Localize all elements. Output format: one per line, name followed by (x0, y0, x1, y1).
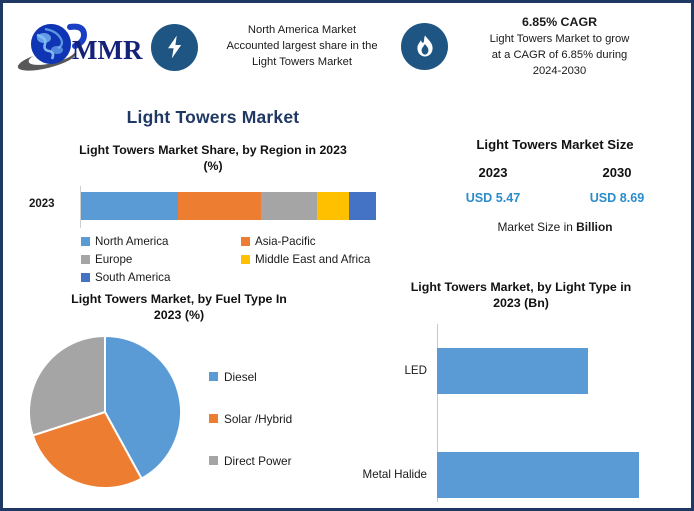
region-legend-label: North America (95, 233, 168, 251)
pie-legend: DieselSolar /HybridDirect Power (209, 356, 349, 482)
bar-row: LED (351, 348, 691, 394)
legend-swatch-icon (241, 255, 250, 264)
market-size-col-2023: 2023 USD 5.47 (431, 165, 555, 205)
bar-chart-title: Light Towers Market, by Light Type in 20… (371, 279, 671, 312)
badge-cagr-headline: 6.85% CAGR (457, 14, 662, 32)
region-legend-label: Europe (95, 251, 132, 269)
region-legend-item: North America (81, 233, 241, 251)
flame-icon (413, 34, 437, 60)
legend-swatch-icon (209, 456, 218, 465)
region-segment (178, 192, 261, 220)
badge-cagr: 6.85% CAGR Light Towers Market to grow a… (401, 14, 671, 79)
region-segment (81, 192, 178, 220)
page-title: Light Towers Market (3, 107, 423, 128)
mmr-logo: MMR (3, 19, 151, 75)
badge2-line2: at a CAGR of 6.85% during (492, 49, 628, 61)
pie-title-line1: Light Towers Market, by Fuel Type In (71, 292, 287, 306)
badge-north-america: North America Market Accounted largest s… (151, 23, 401, 71)
badge-north-america-text: North America Market Accounted largest s… (207, 23, 397, 71)
infographic-poster: MMR North America Market Accounted large… (0, 0, 694, 511)
badge1-line2: Accounted largest share in the (226, 40, 377, 52)
region-stacked-bar (81, 192, 376, 220)
lightning-bolt-icon (162, 34, 188, 60)
pie-legend-label: Direct Power (224, 454, 292, 468)
badge-icon-circle (151, 24, 198, 71)
badge-cagr-text: 6.85% CAGR Light Towers Market to grow a… (457, 14, 662, 79)
region-legend-item: South America (81, 269, 241, 287)
bar-title-line2: 2023 (Bn) (493, 296, 549, 310)
pie-legend-item: Diesel (209, 356, 349, 398)
region-legend-item: Middle East and Africa (241, 251, 401, 269)
market-size-year-left: 2023 (431, 165, 555, 180)
bar-category-label: LED (351, 364, 433, 377)
region-legend-item: Europe (81, 251, 241, 269)
badge2-line1: Light Towers Market to grow (490, 33, 630, 45)
pie-legend-label: Solar /Hybrid (224, 412, 292, 426)
mmr-logo-text: MMR (72, 35, 143, 65)
region-category-label: 2023 (29, 198, 55, 210)
badge2-line3: 2024-2030 (533, 65, 587, 77)
legend-swatch-icon (209, 372, 218, 381)
fuel-type-pie-chart: Light Towers Market, by Fuel Type In 202… (9, 291, 349, 492)
market-size-footnote: Market Size in Billion (421, 220, 689, 234)
market-size-footnote-prefix: Market Size in (498, 220, 577, 234)
pie-legend-item: Direct Power (209, 440, 349, 482)
market-size-footnote-unit: Billion (576, 220, 612, 234)
pie-legend-item: Solar /Hybrid (209, 398, 349, 440)
region-legend-item: Asia-Pacific (241, 233, 401, 251)
market-size-value-left: USD 5.47 (431, 191, 555, 205)
market-size-year-right: 2030 (555, 165, 679, 180)
badge1-line1: North America Market (248, 24, 356, 36)
market-size-years: 2023 USD 5.47 2030 USD 8.69 (421, 165, 689, 205)
region-legend-label: Middle East and Africa (255, 251, 370, 269)
mmr-globe-logo: MMR (15, 19, 145, 75)
region-segment (349, 192, 376, 220)
pie-graphic (25, 332, 185, 492)
region-segment (317, 192, 349, 220)
region-share-chart: Light Towers Market Share, by Region in … (11, 143, 415, 287)
header-bar: MMR North America Market Accounted large… (3, 3, 691, 91)
legend-swatch-icon (241, 237, 250, 246)
region-segment (261, 192, 317, 220)
pie-chart-title: Light Towers Market, by Fuel Type In 202… (29, 291, 329, 324)
legend-swatch-icon (81, 255, 90, 264)
light-type-bar-chart: Light Towers Market, by Light Type in 20… (351, 279, 691, 502)
bar-fill (437, 452, 639, 498)
region-legend-label: Asia-Pacific (255, 233, 316, 251)
legend-swatch-icon (81, 273, 90, 282)
legend-swatch-icon (209, 414, 218, 423)
market-size-title: Light Towers Market Size (421, 137, 689, 152)
market-size-value-right: USD 8.69 (555, 191, 679, 205)
badge1-line3: Light Towers Market (252, 56, 352, 68)
pie-legend-label: Diesel (224, 370, 257, 384)
market-size-col-2030: 2030 USD 8.69 (555, 165, 679, 205)
bar-row: Metal Halide (351, 452, 691, 498)
bar-fill (437, 348, 588, 394)
pie-title-line2: 2023 (%) (154, 308, 204, 322)
badge-icon-circle (401, 23, 448, 70)
bar-chart-plot: LED Metal Halide (351, 324, 691, 502)
bar-title-line1: Light Towers Market, by Light Type in (411, 280, 632, 294)
pie-chart-plot: DieselSolar /HybridDirect Power (9, 332, 349, 492)
region-chart-title: Light Towers Market Share, by Region in … (28, 143, 398, 175)
bar-category-label: Metal Halide (351, 468, 433, 481)
region-title-line2: (%) (203, 159, 222, 173)
region-chart-plot: 2023 (11, 186, 415, 228)
legend-swatch-icon (81, 237, 90, 246)
region-title-line1: Light Towers Market Share, by Region in … (79, 143, 347, 157)
region-legend-label: South America (95, 269, 170, 287)
market-size-panel: Light Towers Market Size 2023 USD 5.47 2… (421, 137, 689, 234)
